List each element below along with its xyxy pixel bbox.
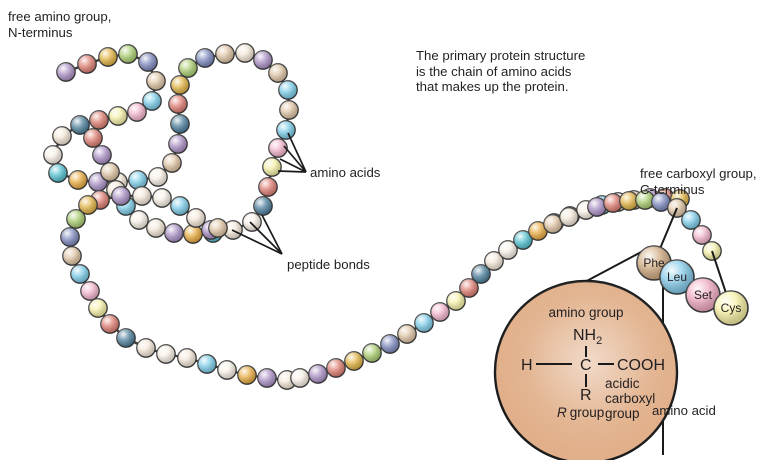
amino-acid-bead [157, 345, 175, 363]
amino-acid-bead [560, 208, 578, 226]
r-atom: R [580, 387, 592, 404]
amino-acid-bead [171, 76, 189, 94]
amino-acid-bead [363, 344, 381, 362]
amino-acid-bead [90, 111, 108, 129]
amino-acid-bead [112, 187, 130, 205]
amino-acid-bead [93, 146, 111, 164]
amino-acid-callout-label: amino acid [652, 403, 716, 419]
peptide-bonds-label: peptide bonds [287, 257, 370, 273]
amino-acid-bead [128, 103, 146, 121]
amino-acid-bead [693, 226, 711, 244]
amino-acid-bead [165, 224, 183, 242]
amino-acid-bead [147, 219, 165, 237]
amino-acid-bead [258, 369, 276, 387]
amino-acid-bead [149, 168, 167, 186]
amino-acid-bead [187, 209, 205, 227]
n-terminus-label: free amino group, N-terminus [8, 9, 111, 40]
amino-acid-bead [179, 59, 197, 77]
amino-acid-bead [69, 171, 87, 189]
amino-acid-bead [99, 48, 117, 66]
amino-acid-bead [218, 361, 236, 379]
amino-acid-bead [63, 247, 81, 265]
amino-acid-bead [254, 51, 272, 69]
amino-acid-bead [81, 282, 99, 300]
primary-structure-caption: The primary protein structure is the cha… [416, 48, 585, 95]
residue-label: Cys [721, 301, 742, 315]
amino-acid-bead [269, 139, 287, 157]
amino-acid-bead [101, 315, 119, 333]
amino-acid-bead [198, 355, 216, 373]
amino-acid-bead [196, 49, 214, 67]
amino-acid-bead [49, 164, 67, 182]
c-terminus-label: free carboxyl group, C-terminus [640, 166, 757, 197]
amino-group-label: amino group [548, 305, 623, 320]
amino-acid-bead [57, 63, 75, 81]
amino-acid-bead [259, 178, 277, 196]
amino-acid-bead [254, 197, 272, 215]
amino-acid-bead [279, 81, 297, 99]
amino-acid-bead [269, 64, 287, 82]
amino-acid-bead [67, 210, 85, 228]
named-residue-cys: Cys [714, 291, 748, 325]
amino-acid-bead [327, 359, 345, 377]
amino-acid-bead [163, 154, 181, 172]
amino-acid-bead [209, 219, 227, 237]
amino-acid-bead [137, 339, 155, 357]
amino-acid-bead [588, 198, 606, 216]
amino-acid-bead [71, 265, 89, 283]
amino-acid-bead [169, 135, 187, 153]
amino-acid-bead [381, 335, 399, 353]
residue-label: Set [694, 288, 713, 302]
amino-acids-label: amino acids [310, 165, 380, 181]
amino-acid-bead [263, 158, 281, 176]
amino-acid-bead [109, 107, 127, 125]
amino-acid-bead [169, 95, 187, 113]
protein-chain-svg: amino group H NH2 H C COOH R Rgroup acid… [0, 0, 782, 460]
carboxyl-label: carboxyl [605, 391, 655, 406]
amino-acid-bead [133, 187, 151, 205]
amino-acid-bead [61, 228, 79, 246]
amino-acid-bead [238, 366, 256, 384]
amino-acid-bead [309, 365, 327, 383]
amino-acid-bead [243, 213, 261, 231]
diagram-canvas: amino group H NH2 H C COOH R Rgroup acid… [0, 0, 782, 460]
c-atom: C [580, 357, 592, 374]
amino-acid-bead [171, 197, 189, 215]
amino-acid-bead [277, 121, 295, 139]
group-label: group [605, 406, 640, 421]
amino-acid-bead [236, 44, 254, 62]
residue-label: Leu [667, 270, 687, 284]
amino-acid-bead [153, 189, 171, 207]
amino-acid-bead [84, 129, 102, 147]
amino-acid-bead [44, 146, 62, 164]
amino-acid-bead [184, 225, 202, 243]
amino-acid-bead [78, 55, 96, 73]
amino-acid-bead [291, 369, 309, 387]
amino-acid-bead [415, 314, 433, 332]
acidic-label: acidic [605, 376, 640, 391]
amino-acid-bead [398, 325, 416, 343]
amino-acid-bead [101, 163, 119, 181]
amino-acid-bead [119, 45, 137, 63]
amino-acid-bead [178, 349, 196, 367]
amino-acid-bead [53, 127, 71, 145]
amino-acid-bead [130, 211, 148, 229]
amino-acid-bead [280, 101, 298, 119]
amino-acid-bead [345, 352, 363, 370]
amino-acid-bead [171, 115, 189, 133]
amino-acid-bead [147, 72, 165, 90]
amino-acid-bead [129, 171, 147, 189]
amino-acid-bead [89, 299, 107, 317]
amino-acid-bead [431, 303, 449, 321]
amino-acid-bead [139, 53, 157, 71]
cooh-group: COOH [617, 357, 665, 374]
amino-acid-bead [216, 45, 234, 63]
amino-acid-bead [117, 329, 135, 347]
r-group-label: Rgroup [557, 405, 604, 420]
h-atom: H [521, 357, 533, 374]
